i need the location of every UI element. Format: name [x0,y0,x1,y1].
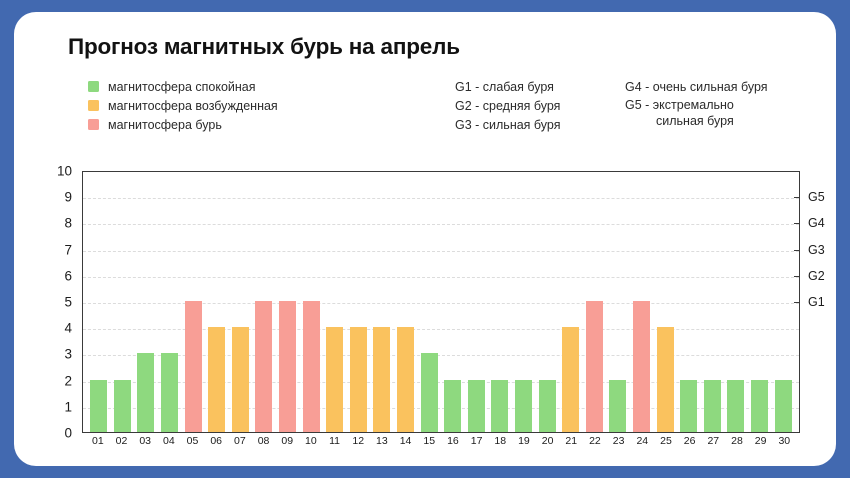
bar-22[interactable] [586,301,603,432]
bar-cell-15[interactable] [417,172,441,432]
bar-26[interactable] [680,380,697,432]
x-tick-label-28: 28 [725,435,749,447]
y-tick-label-8: 8 [42,216,72,231]
bar-cell-23[interactable] [606,172,630,432]
x-tick-label-25: 25 [654,435,678,447]
y-tick-label-6: 6 [42,268,72,283]
g-tick-label-g1: G1 [808,295,825,309]
g-scale-item-g3: G3 - сильная буря [455,116,625,135]
x-tick-label-10: 10 [299,435,323,447]
bar-cell-30[interactable] [771,172,795,432]
g-scale-column-1: G1 - слабая буря G2 - средняя буря G3 - … [455,78,625,135]
x-tick-label-19: 19 [512,435,536,447]
x-tick-label-26: 26 [678,435,702,447]
x-tick-label-09: 09 [275,435,299,447]
bar-cell-13[interactable] [370,172,394,432]
y-tick-label-1: 1 [42,399,72,414]
legend-swatch-calm [88,81,99,92]
bar-02[interactable] [114,380,131,432]
g-scale-item-g2: G2 - средняя буря [455,97,625,116]
x-tick-label-12: 12 [346,435,370,447]
bar-cell-01[interactable] [87,172,111,432]
legend-label-storm: магнитосфера бурь [108,118,222,132]
g-tick-label-g2: G2 [808,269,825,283]
g-tick-mark-g3 [794,250,800,251]
legend-item-excited: магнитосфера возбужденная [88,97,388,114]
bar-cell-27[interactable] [700,172,724,432]
legend-item-calm: магнитосфера спокойная [88,78,388,95]
y-tick-label-4: 4 [42,321,72,336]
bar-19[interactable] [515,380,532,432]
x-tick-label-01: 01 [86,435,110,447]
x-tick-label-07: 07 [228,435,252,447]
x-tick-label-08: 08 [252,435,276,447]
bar-13[interactable] [373,327,390,432]
bar-cell-08[interactable] [252,172,276,432]
legend-swatch-excited [88,100,99,111]
bar-cell-20[interactable] [535,172,559,432]
bar-08[interactable] [255,301,272,432]
x-tick-label-14: 14 [394,435,418,447]
g-scale-item-g5-line1: G5 - экстремально [625,98,734,112]
bar-cell-11[interactable] [323,172,347,432]
y-tick-label-0: 0 [42,426,72,441]
bar-10[interactable] [303,301,320,432]
bar-07[interactable] [232,327,249,432]
x-tick-label-22: 22 [583,435,607,447]
x-tick-label-24: 24 [630,435,654,447]
bar-cell-29[interactable] [748,172,772,432]
x-tick-label-16: 16 [441,435,465,447]
x-tick-label-04: 04 [157,435,181,447]
bar-05[interactable] [185,301,202,432]
x-tick-label-23: 23 [607,435,631,447]
legend-item-storm: магнитосфера бурь [88,116,388,133]
bar-group [83,172,799,432]
bar-cell-17[interactable] [465,172,489,432]
bar-04[interactable] [161,353,178,432]
y-tick-label-7: 7 [42,242,72,257]
g-tick-label-g5: G5 [808,190,825,204]
bar-cell-06[interactable] [205,172,229,432]
bar-cell-19[interactable] [512,172,536,432]
x-tick-label-06: 06 [204,435,228,447]
bar-27[interactable] [704,380,721,432]
bar-20[interactable] [539,380,556,432]
y-tick-label-9: 9 [42,190,72,205]
bar-01[interactable] [90,380,107,432]
x-tick-label-21: 21 [559,435,583,447]
bar-cell-10[interactable] [299,172,323,432]
x-axis-labels: 0102030405060708091011121314151617181920… [82,435,800,447]
bar-29[interactable] [751,380,768,432]
g-scale-legend: G1 - слабая буря G2 - средняя буря G3 - … [455,78,795,135]
bar-cell-18[interactable] [488,172,512,432]
x-tick-label-11: 11 [323,435,347,447]
bar-14[interactable] [397,327,414,432]
g-scale-item-g5: G5 - экстремально сильная буря [625,97,795,129]
bar-cell-24[interactable] [630,172,654,432]
bar-cell-21[interactable] [559,172,583,432]
bar-cell-12[interactable] [347,172,371,432]
plot-area [82,171,800,433]
chart-card: Прогноз магнитных бурь на апрель магнито… [14,12,836,466]
bar-25[interactable] [657,327,674,432]
page-title: Прогноз магнитных бурь на апрель [68,34,460,60]
bar-cell-04[interactable] [158,172,182,432]
g-tick-mark-g1 [794,302,800,303]
x-tick-label-15: 15 [417,435,441,447]
y-tick-label-2: 2 [42,373,72,388]
y-tick-label-3: 3 [42,347,72,362]
bar-23[interactable] [609,380,626,432]
x-tick-label-13: 13 [370,435,394,447]
g-scale-item-g4: G4 - очень сильная буря [625,78,795,97]
g-tick-mark-g4 [794,223,800,224]
bar-06[interactable] [208,327,225,432]
x-tick-label-03: 03 [133,435,157,447]
bar-15[interactable] [421,353,438,432]
bar-28[interactable] [727,380,744,432]
bar-24[interactable] [633,301,650,432]
bar-16[interactable] [444,380,461,432]
bar-11[interactable] [326,327,343,432]
y-tick-label-5: 5 [42,295,72,310]
g-scale-item-g5-line2: сильная буря [625,113,795,129]
g-scale-column-2: G4 - очень сильная буря G5 - экстремальн… [625,78,795,135]
x-tick-label-27: 27 [701,435,725,447]
g-tick-mark-g5 [794,197,800,198]
bar-17[interactable] [468,380,485,432]
x-tick-label-17: 17 [465,435,489,447]
bar-cell-16[interactable] [441,172,465,432]
bar-cell-07[interactable] [229,172,253,432]
bar-cell-26[interactable] [677,172,701,432]
g-tick-mark-g2 [794,276,800,277]
bar-18[interactable] [491,380,508,432]
bar-03[interactable] [137,353,154,432]
x-tick-label-29: 29 [749,435,773,447]
g-tick-label-g4: G4 [808,216,825,230]
bar-cell-22[interactable] [582,172,606,432]
legend: магнитосфера спокойнаямагнитосфера возбу… [88,78,388,135]
bar-30[interactable] [775,380,792,432]
x-tick-label-30: 30 [772,435,796,447]
bar-cell-02[interactable] [111,172,135,432]
y-tick-label-10: 10 [42,164,72,179]
bar-09[interactable] [279,301,296,432]
x-tick-label-20: 20 [536,435,560,447]
bar-21[interactable] [562,327,579,432]
bar-cell-05[interactable] [181,172,205,432]
x-tick-label-02: 02 [110,435,134,447]
bar-cell-14[interactable] [394,172,418,432]
bar-cell-03[interactable] [134,172,158,432]
g-scale-item-g1: G1 - слабая буря [455,78,625,97]
legend-swatch-storm [88,119,99,130]
magnetic-storm-bar-chart: 012345678910 G1G2G3G4G5 0102030405060708… [42,160,832,460]
bar-cell-28[interactable] [724,172,748,432]
bar-cell-09[interactable] [276,172,300,432]
bar-12[interactable] [350,327,367,432]
legend-label-calm: магнитосфера спокойная [108,80,256,94]
g-tick-label-g3: G3 [808,243,825,257]
x-tick-label-05: 05 [181,435,205,447]
legend-label-excited: магнитосфера возбужденная [108,99,278,113]
bar-cell-25[interactable] [653,172,677,432]
x-tick-label-18: 18 [488,435,512,447]
